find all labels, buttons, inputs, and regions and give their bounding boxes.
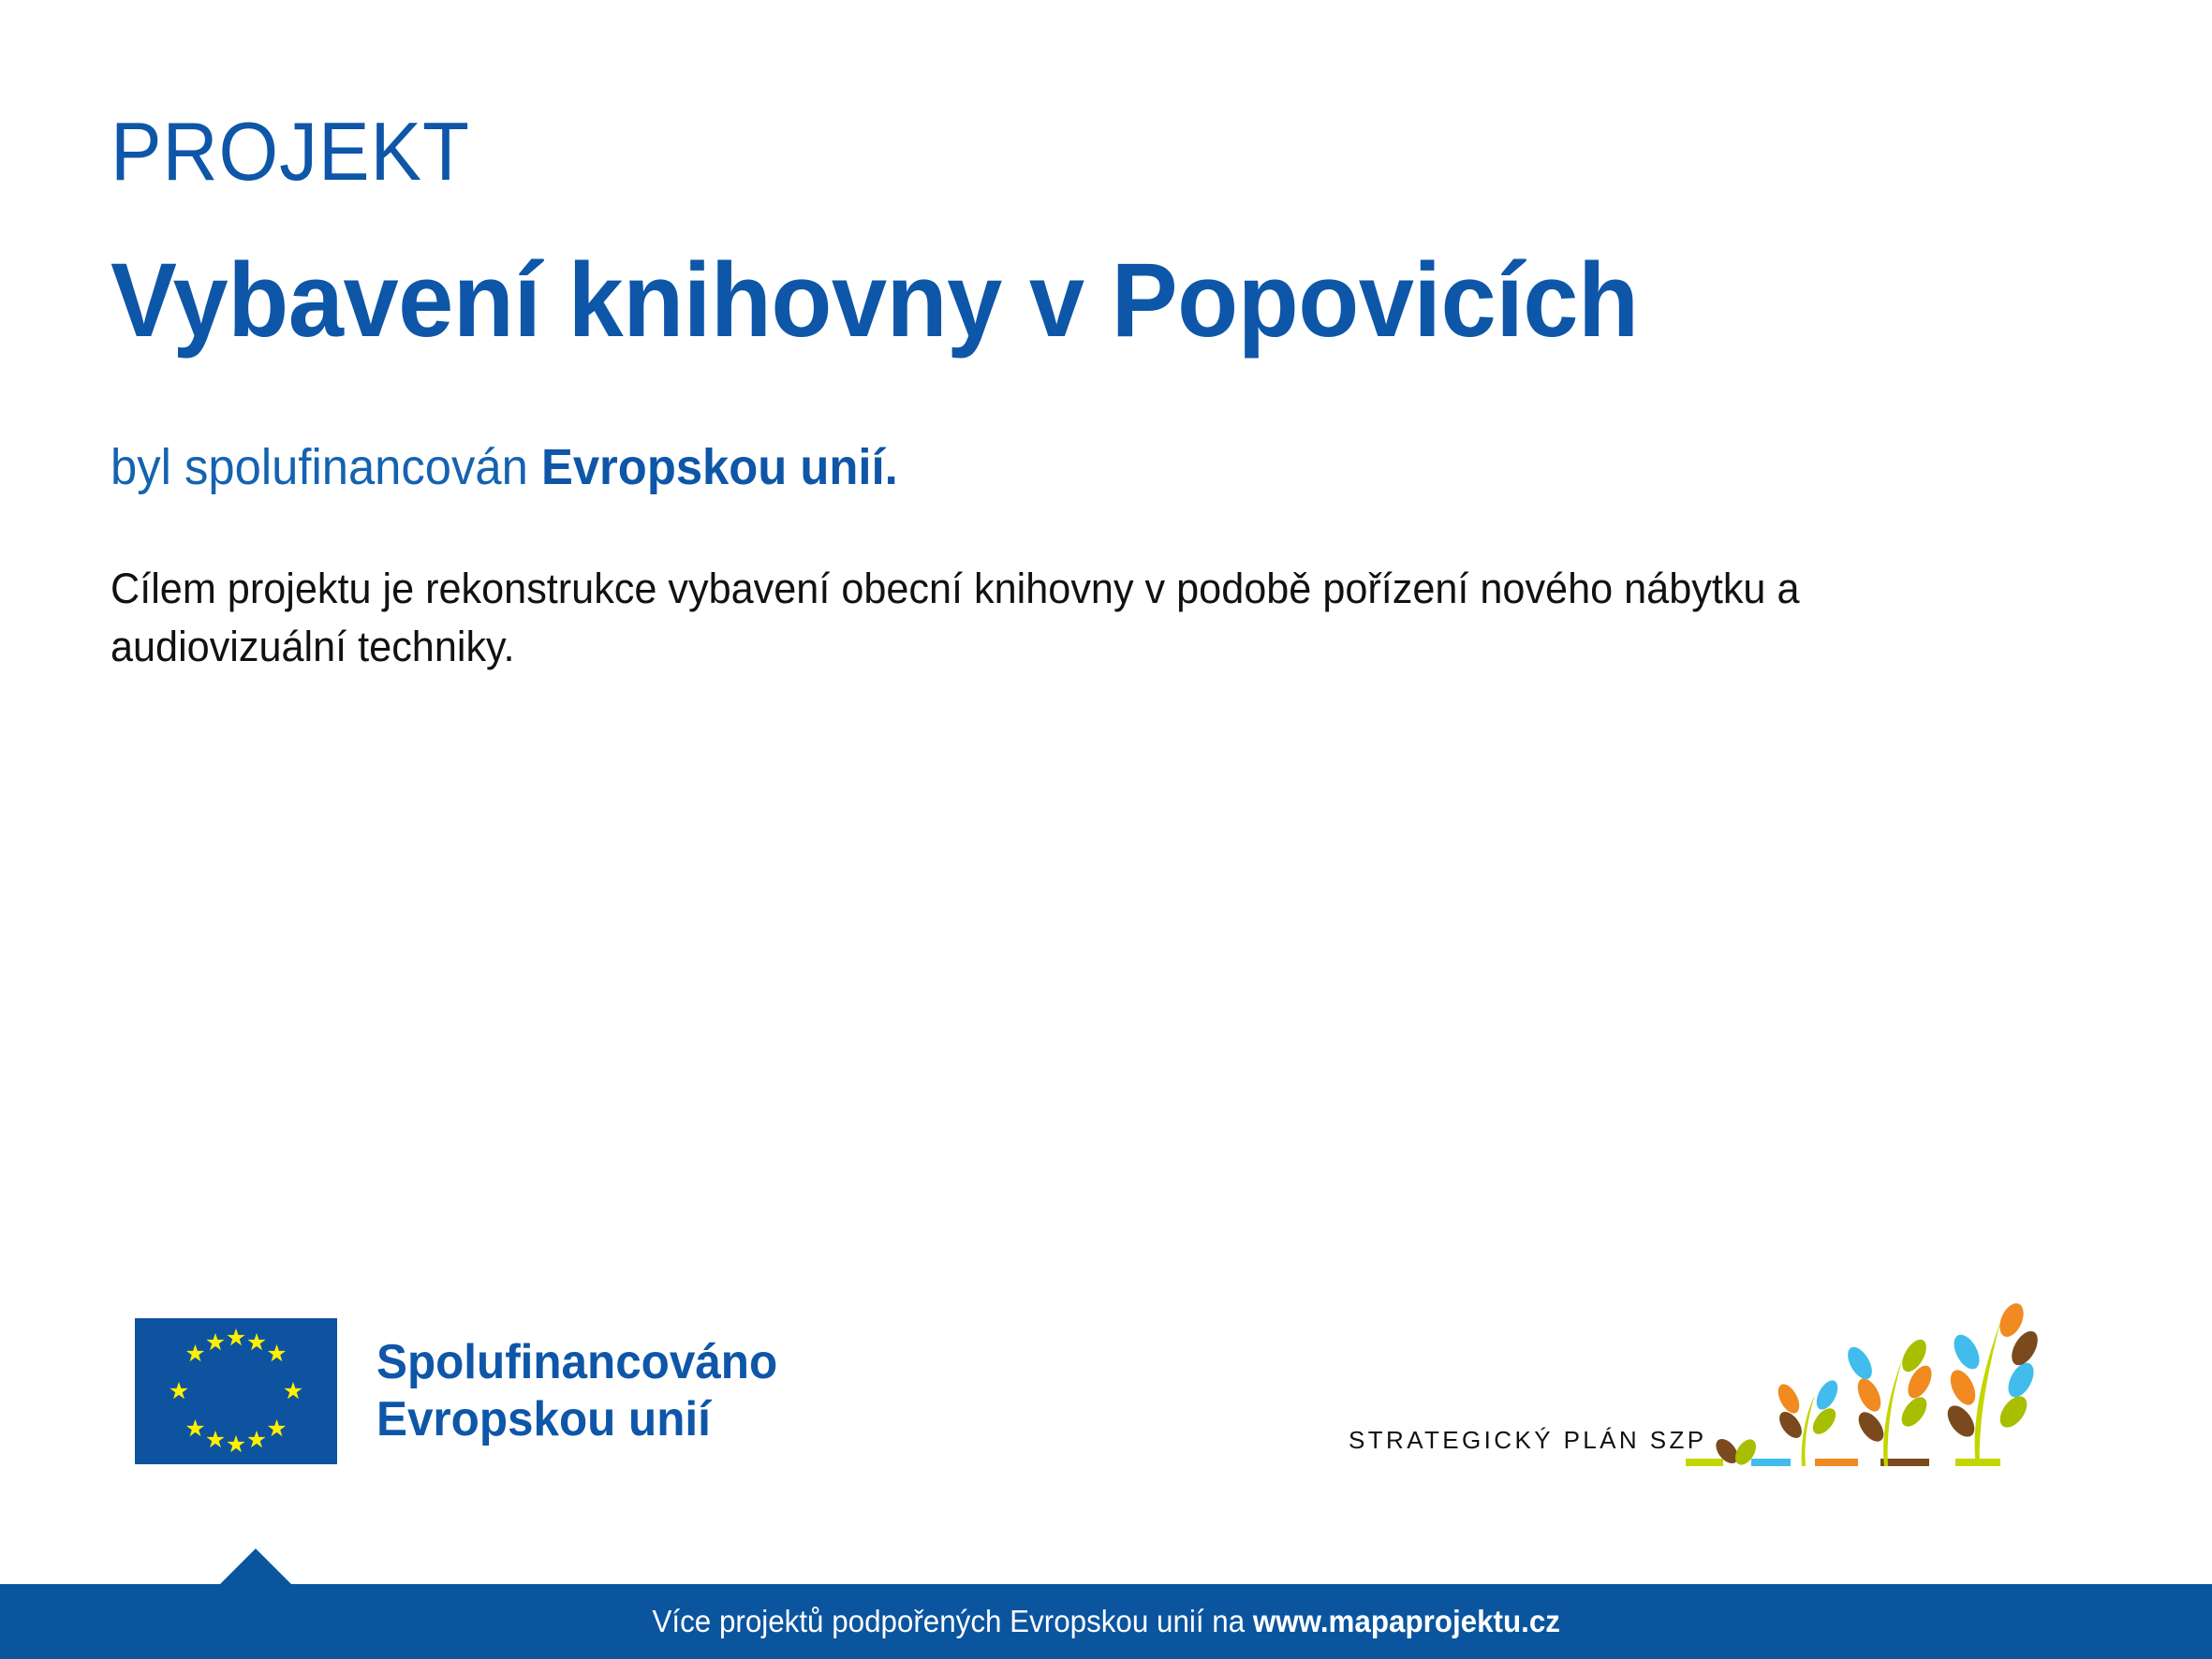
eu-flag-icon [135, 1318, 337, 1464]
sprout-large [1942, 1301, 2043, 1466]
funding-subline: byl spolufinancován Evropskou unií. [111, 437, 1959, 498]
eu-logo-caption-line2: Evropskou unií [376, 1391, 777, 1448]
text-content-block: PROJEKT Vybavení knihovny v Popovicích b… [111, 110, 2077, 676]
footer-text: Více projektů podpořených Evropskou unií… [652, 1604, 1559, 1639]
eu-funding-logo: Spolufinancováno Evropskou unií [135, 1318, 799, 1464]
footer-notch-triangle [220, 1549, 291, 1584]
footer-text-prefix: Více projektů podpořených Evropskou unií… [652, 1604, 1252, 1638]
growing-plants-icon [1686, 1301, 2088, 1479]
project-description: Cílem projektu je rekonstrukce vybavení … [111, 560, 1963, 676]
page-title: Vybavení knihovny v Popovicích [111, 245, 1979, 357]
sprout-medium [1843, 1336, 1937, 1466]
szp-logo-label: STRATEGICKÝ PLÁN SZP [1349, 1426, 1706, 1455]
eu-logo-caption-line1: Spolufinancováno [376, 1334, 777, 1391]
eu-logo-caption: Spolufinancováno Evropskou unií [376, 1334, 777, 1449]
funding-subline-emphasis: Evropskou unií. [541, 439, 898, 495]
szp-logo: STRATEGICKÝ PLÁN SZP [1349, 1301, 2088, 1479]
eu-stars-circle-icon [135, 1318, 337, 1464]
footer-bar: Více projektů podpořených Evropskou unií… [0, 1584, 2212, 1659]
sprout-medium-small [1774, 1377, 1842, 1466]
poster-canvas: PROJEKT Vybavení knihovny v Popovicích b… [0, 0, 2212, 1659]
funding-subline-prefix: byl spolufinancován [111, 439, 541, 495]
footer-url-link[interactable]: www.mapaprojektu.cz [1253, 1604, 1560, 1638]
page-eyebrow: PROJEKT [111, 110, 1939, 193]
